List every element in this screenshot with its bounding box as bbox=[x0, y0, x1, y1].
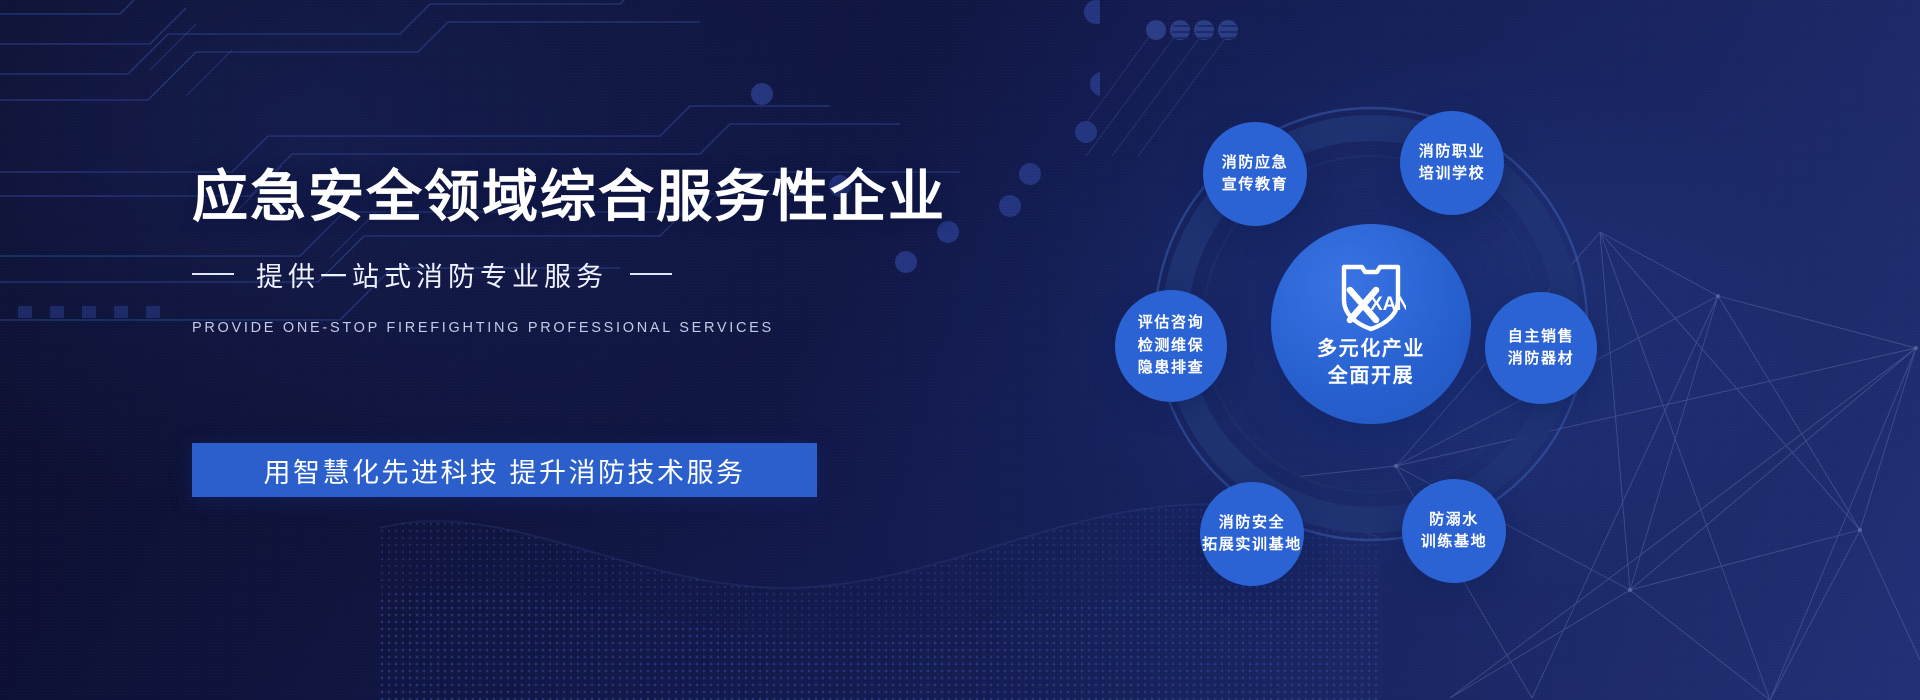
node-fire-vocational-school[interactable]: 消防职业 培训学校 bbox=[1400, 111, 1504, 215]
node-sales-line-1: 自主销售 bbox=[1508, 326, 1574, 348]
node-water-line-1: 防溺水 bbox=[1429, 509, 1479, 531]
center-node-diversified-industry[interactable]: XAN 多元化产业 全面开展 bbox=[1271, 224, 1471, 424]
svg-text:XAN: XAN bbox=[1370, 294, 1406, 315]
center-label-line-1: 多元化产业 bbox=[1317, 336, 1425, 363]
services-circle-diagram: XAN 多元化产业 全面开展 消防应急 宣传教育 消防职业 培训学校 自主销售 … bbox=[1130, 62, 1730, 642]
node-edu-line-1: 消防应急 bbox=[1222, 152, 1288, 174]
node-fire-safety-training-base[interactable]: 消防安全 拓展实训基地 bbox=[1200, 482, 1304, 586]
node-water-line-2: 训练基地 bbox=[1421, 531, 1487, 553]
dash-left-icon bbox=[192, 273, 234, 275]
node-assess-line-1: 评估咨询 bbox=[1138, 312, 1204, 335]
node-school-line-1: 消防职业 bbox=[1419, 141, 1485, 163]
shield-x-logo-icon: XAN bbox=[1336, 258, 1406, 332]
hero-subtitle: 提供一站式消防专业服务 bbox=[256, 255, 608, 294]
hero-english-tagline: PROVIDE ONE-STOP FIREFIGHTING PROFESSION… bbox=[192, 320, 912, 336]
center-node-label: 多元化产业 全面开展 bbox=[1317, 336, 1425, 390]
cta-label: 用智慧化先进科技 提升消防技术服务 bbox=[263, 451, 745, 490]
node-assess-line-3: 隐患排查 bbox=[1138, 357, 1204, 380]
node-drowning-prevention-base[interactable]: 防溺水 训练基地 bbox=[1402, 479, 1506, 583]
dash-right-icon bbox=[630, 273, 672, 275]
node-base-line-2: 拓展实训基地 bbox=[1202, 534, 1302, 556]
hero-copy-block: 应急安全领域综合服务性企业 提供一站式消防专业服务 PROVIDE ONE-ST… bbox=[192, 168, 912, 336]
node-independent-equipment-sales[interactable]: 自主销售 消防器材 bbox=[1485, 292, 1597, 404]
node-base-line-1: 消防安全 bbox=[1219, 512, 1285, 534]
center-label-line-2: 全面开展 bbox=[1317, 363, 1425, 390]
node-assess-line-2: 检测维保 bbox=[1138, 335, 1204, 358]
node-fire-emergency-education[interactable]: 消防应急 宣传教育 bbox=[1203, 122, 1307, 226]
node-assessment-inspection-maintenance[interactable]: 评估咨询 检测维保 隐患排查 bbox=[1115, 290, 1227, 402]
node-sales-line-2: 消防器材 bbox=[1508, 348, 1574, 370]
node-school-line-2: 培训学校 bbox=[1419, 163, 1485, 185]
hero-banner: 应急安全领域综合服务性企业 提供一站式消防专业服务 PROVIDE ONE-ST… bbox=[0, 0, 1920, 700]
node-edu-line-2: 宣传教育 bbox=[1222, 174, 1288, 196]
page-title: 应急安全领域综合服务性企业 bbox=[192, 168, 912, 227]
cta-banner-button[interactable]: 用智慧化先进科技 提升消防技术服务 bbox=[192, 443, 817, 497]
hero-subtitle-row: 提供一站式消防专业服务 bbox=[192, 255, 912, 294]
